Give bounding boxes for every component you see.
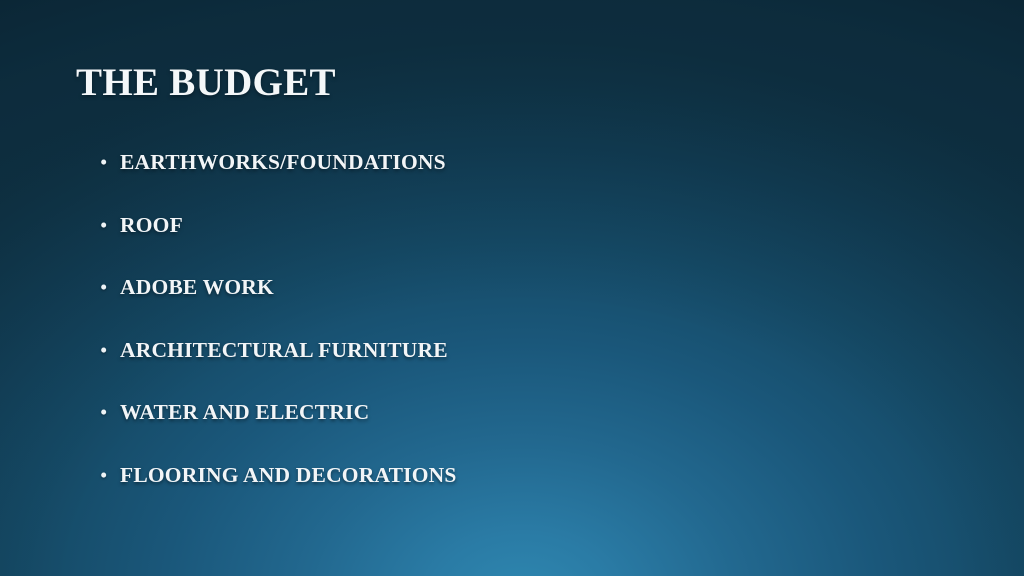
- bullet-point-icon: •: [100, 277, 120, 298]
- list-item-label: EARTHWORKS/FOUNDATIONS: [120, 150, 446, 175]
- bullet-point-icon: •: [100, 152, 120, 173]
- list-item: • EARTHWORKS/FOUNDATIONS: [100, 150, 920, 213]
- presentation-slide: THE BUDGET • EARTHWORKS/FOUNDATIONS • RO…: [0, 0, 1024, 576]
- bullet-list: • EARTHWORKS/FOUNDATIONS • ROOF • ADOBE …: [100, 150, 920, 525]
- bullet-point-icon: •: [100, 402, 120, 423]
- list-item: • ADOBE WORK: [100, 275, 920, 338]
- list-item: • ROOF: [100, 213, 920, 276]
- list-item-label: FLOORING AND DECORATIONS: [120, 463, 457, 488]
- slide-title: THE BUDGET: [76, 60, 336, 105]
- list-item-label: ARCHITECTURAL FURNITURE: [120, 338, 448, 363]
- slide-content: THE BUDGET • EARTHWORKS/FOUNDATIONS • RO…: [0, 0, 1024, 576]
- list-item-label: ADOBE WORK: [120, 275, 274, 300]
- bullet-point-icon: •: [100, 340, 120, 361]
- bullet-point-icon: •: [100, 465, 120, 486]
- list-item: • FLOORING AND DECORATIONS: [100, 463, 920, 526]
- list-item: • ARCHITECTURAL FURNITURE: [100, 338, 920, 401]
- list-item-label: ROOF: [120, 213, 183, 238]
- list-item: • WATER AND ELECTRIC: [100, 400, 920, 463]
- bullet-point-icon: •: [100, 215, 120, 236]
- list-item-label: WATER AND ELECTRIC: [120, 400, 369, 425]
